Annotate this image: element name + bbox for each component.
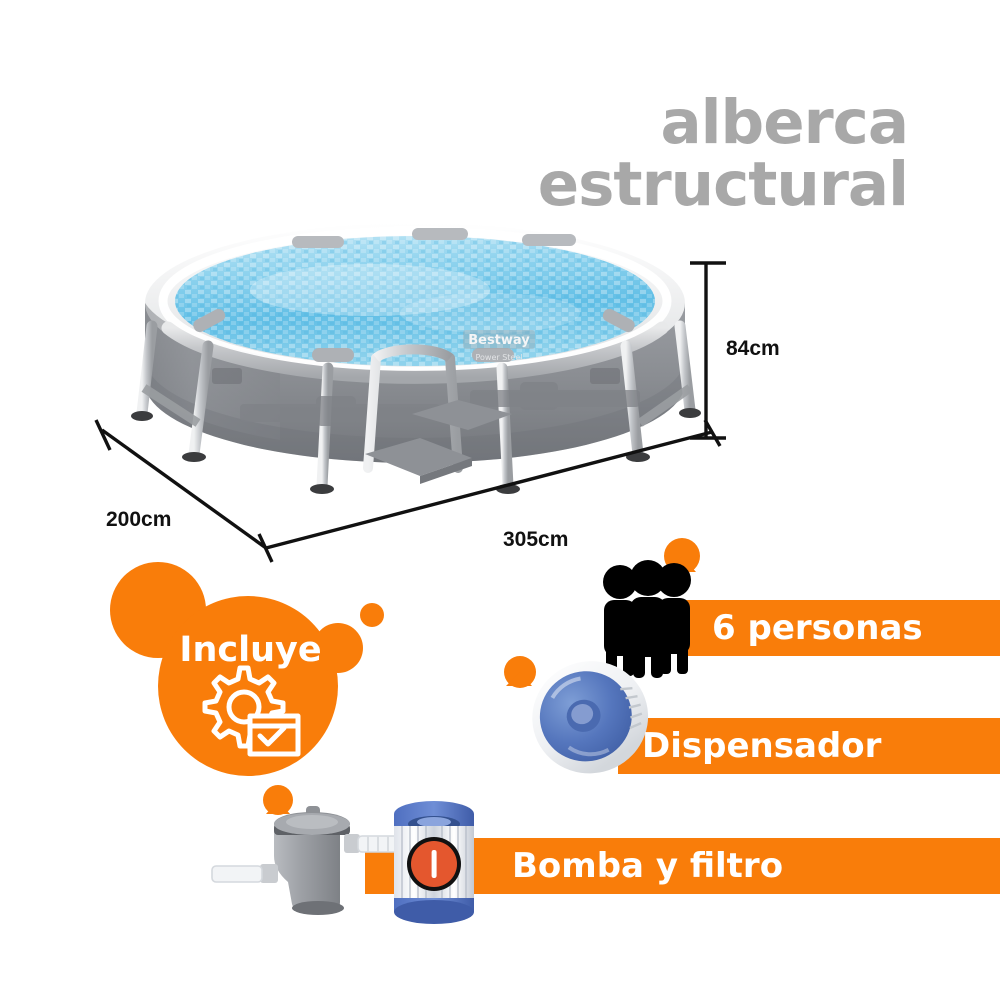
svg-text:Power Steel: Power Steel (475, 353, 522, 362)
height-dimension-label: 84cm (726, 337, 780, 361)
title-line-2: estructural (538, 154, 908, 216)
infographic-canvas: alberca estructural (0, 0, 1000, 1000)
pool-product-image: Bestway Power Steel (120, 218, 710, 518)
feature-label-bomba: Bomba y filtro (512, 838, 783, 894)
pump-body (212, 806, 410, 915)
svg-text:Bestway: Bestway (468, 333, 530, 348)
feature-label-personas: 6 personas (712, 600, 923, 656)
feature-label-dispensador: Dispensador (642, 718, 881, 774)
feature-row-bomba: Bomba y filtro (0, 778, 1000, 923)
filter-cartridge (394, 801, 474, 924)
pump-and-filter-icon (240, 778, 490, 923)
page-title: alberca estructural (538, 92, 908, 216)
title-line-1: alberca (538, 92, 908, 154)
chlorine-dispenser-icon (490, 650, 660, 795)
